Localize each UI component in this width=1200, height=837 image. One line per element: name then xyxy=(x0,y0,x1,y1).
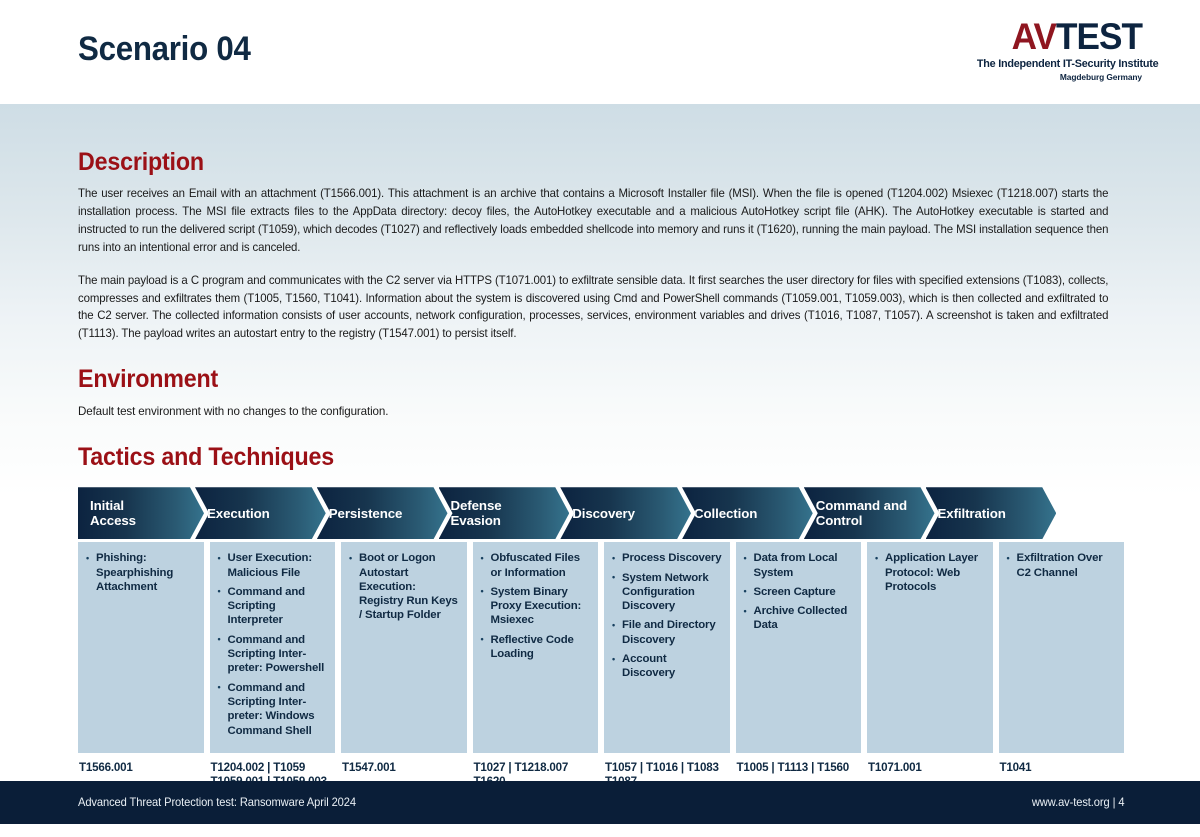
technique-list-cell: Data from Local SystemScreen CaptureArch… xyxy=(736,542,862,753)
description-heading: Description xyxy=(78,104,1051,177)
technique-item[interactable]: System Network Configuration Discovery xyxy=(612,571,722,614)
technique-item[interactable]: Process Discovery xyxy=(612,551,722,565)
description-paragraph-2: The main payload is a C program and comm… xyxy=(78,272,1108,344)
technique-item[interactable]: Command and Scripting Inter-preter: Powe… xyxy=(218,633,328,676)
tactic-header-label: Persistence xyxy=(329,506,403,522)
technique-item[interactable]: Archive Collected Data xyxy=(744,604,854,633)
tactic-header-cell[interactable]: Exfiltration xyxy=(926,487,1057,539)
tactics-header-row: InitialAccessExecutionPersistenceDefense… xyxy=(78,487,1124,539)
tactic-header-label: Defense xyxy=(451,498,502,514)
footer-bottom-strip xyxy=(0,824,1200,837)
technique-item[interactable]: Command and Scripting Inter-preter: Wind… xyxy=(218,681,328,738)
footer-test-name: Advanced Threat Protection test: Ransomw… xyxy=(78,796,356,809)
technique-id: T1204.002 | T1059 xyxy=(211,761,336,776)
technique-id: T1027 | T1218.007 xyxy=(474,761,599,776)
tactic-header-label: Discovery xyxy=(572,506,635,522)
technique-item[interactable]: Reflective Code Loading xyxy=(481,633,591,662)
tactic-header-cell[interactable]: Execution xyxy=(195,487,326,539)
page-header: Scenario 04 AVTEST The Independent IT-Se… xyxy=(0,0,1200,104)
environment-text: Default test environment with no changes… xyxy=(78,403,1124,420)
page-footer: Advanced Threat Protection test: Ransomw… xyxy=(0,781,1200,824)
tactic-header-label: Command and xyxy=(816,498,907,514)
tactic-header-cell[interactable]: Command andControl xyxy=(804,487,935,539)
tactic-header-cell[interactable]: Discovery xyxy=(560,487,691,539)
technique-item[interactable]: Exfiltration Over C2 Channel xyxy=(1007,551,1117,580)
logo-wordmark: AVTEST xyxy=(979,18,1142,55)
technique-list-cell: Process DiscoverySystem Network Configur… xyxy=(604,542,730,753)
logo-location: Magdeburg Germany xyxy=(970,72,1142,82)
technique-item[interactable]: Boot or Logon Autostart Execution: Regis… xyxy=(349,551,459,622)
technique-list-cell: Boot or Logon Autostart Execution: Regis… xyxy=(341,542,467,753)
technique-list-cell: Exfiltration Over C2 Channel xyxy=(999,542,1125,753)
footer-website-page: www.av-test.org | 4 xyxy=(1031,796,1124,809)
technique-item[interactable]: Command and Scripting Interpreter xyxy=(218,585,328,628)
technique-list-cell: Application Layer Protocol: Web Protocol… xyxy=(867,542,993,753)
technique-item[interactable]: Application Layer Protocol: Web Protocol… xyxy=(875,551,985,594)
tactic-header-label: Collection xyxy=(694,506,757,522)
logo-av-text: AV xyxy=(1012,16,1056,57)
logo-tagline: The Independent IT-Security Institute xyxy=(977,58,1142,70)
avtest-logo: AVTEST The Independent IT-Security Insti… xyxy=(970,18,1142,82)
technique-item[interactable]: Data from Local System xyxy=(744,551,854,580)
tactic-header-cell[interactable]: InitialAccess xyxy=(78,487,204,539)
technique-list-cell: Obfuscated Files or InformationSystem Bi… xyxy=(473,542,599,753)
tactics-heading: Tactics and Techniques xyxy=(78,420,1051,472)
logo-test-text: TEST xyxy=(1056,16,1142,57)
technique-item[interactable]: System Binary Proxy Execution: Msiexec xyxy=(481,585,591,628)
environment-heading: Environment xyxy=(78,343,1051,394)
page-content: Description The user receives an Email w… xyxy=(0,104,1200,790)
tactic-header-label: Evasion xyxy=(451,513,502,529)
technique-list-cell: Phishing: Spearphishing Attachment xyxy=(78,542,204,753)
tactic-header-cell[interactable]: Collection xyxy=(682,487,813,539)
technique-item[interactable]: User Execution: Malicious File xyxy=(218,551,328,580)
page-title: Scenario 04 xyxy=(78,30,251,69)
tactic-header-cell[interactable]: DefenseEvasion xyxy=(439,487,570,539)
technique-item[interactable]: Account Discovery xyxy=(612,652,722,681)
tactic-header-label: Control xyxy=(816,513,907,529)
page-root: Scenario 04 AVTEST The Independent IT-Se… xyxy=(0,0,1200,837)
tactics-table: InitialAccessExecutionPersistenceDefense… xyxy=(78,487,1124,790)
tactic-header-label: Initial xyxy=(90,498,136,514)
tactic-header-label: Access xyxy=(90,513,136,529)
tactics-body-row: Phishing: Spearphishing AttachmentUser E… xyxy=(78,542,1124,753)
tactic-header-cell[interactable]: Persistence xyxy=(317,487,448,539)
technique-id: T1041 xyxy=(1000,761,1125,776)
technique-id: T1057 | T1016 | T1083 xyxy=(605,761,730,776)
technique-item[interactable]: File and Directory Discovery xyxy=(612,618,722,647)
technique-id: T1071.001 xyxy=(868,761,993,776)
technique-id: T1005 | T1113 | T1560 xyxy=(737,761,862,776)
tactic-header-label: Execution xyxy=(207,506,270,522)
technique-item[interactable]: Obfuscated Files or Information xyxy=(481,551,591,580)
technique-item[interactable]: Screen Capture xyxy=(744,585,854,599)
technique-id: T1566.001 xyxy=(79,761,204,776)
description-paragraph-1: The user receives an Email with an attac… xyxy=(78,185,1108,257)
technique-list-cell: User Execution: Malicious FileCommand an… xyxy=(210,542,336,753)
tactic-header-label: Exfiltration xyxy=(938,506,1006,522)
technique-item[interactable]: Phishing: Spearphishing Attachment xyxy=(86,551,196,594)
technique-id: T1547.001 xyxy=(342,761,467,776)
